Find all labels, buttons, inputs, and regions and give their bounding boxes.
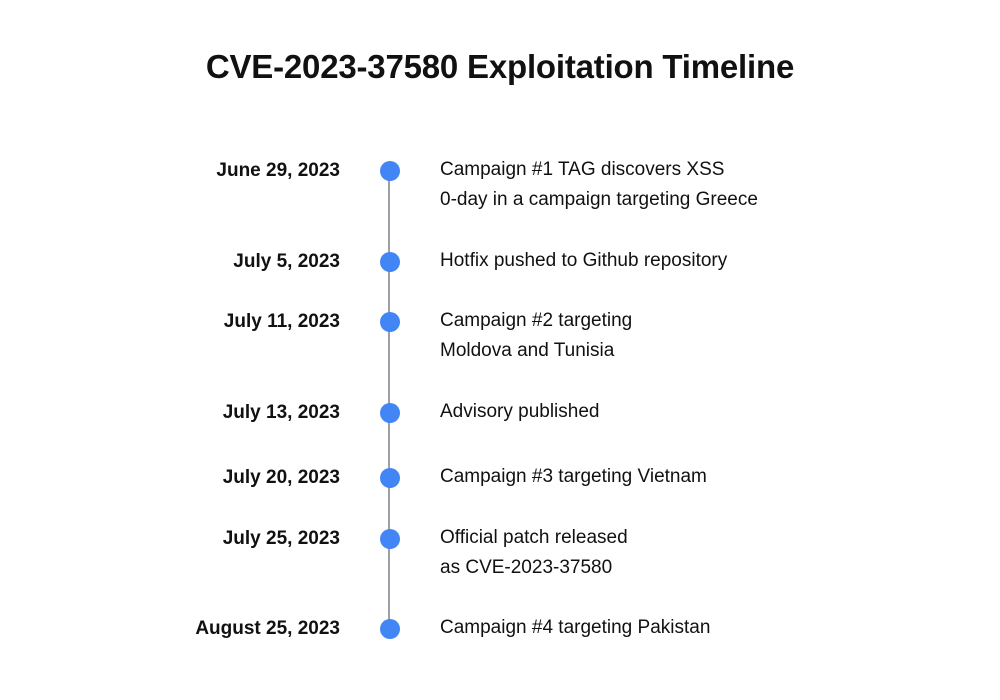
timeline-dot-icon <box>380 403 400 423</box>
event-description: Campaign #3 targeting Vietnam <box>440 456 1000 492</box>
event-marker-cell <box>340 391 440 423</box>
event-description: Advisory published <box>440 391 1000 427</box>
timeline-dot-icon <box>380 312 400 332</box>
event-date: July 25, 2023 <box>0 517 340 551</box>
event-marker-cell <box>340 300 440 332</box>
event-marker-cell <box>340 607 440 639</box>
event-description-line: Advisory published <box>440 397 980 427</box>
event-description-line: Moldova and Tunisia <box>440 336 980 366</box>
timeline-infographic: CVE-2023-37580 Exploitation Timeline Jun… <box>0 0 1000 700</box>
event-description-line: as CVE-2023-37580 <box>440 553 980 583</box>
timeline-dot-icon <box>380 619 400 639</box>
timeline-dot-icon <box>380 468 400 488</box>
event-marker-cell <box>340 240 440 272</box>
event-description: Campaign #4 targeting Pakistan <box>440 607 1000 643</box>
event-date: July 20, 2023 <box>0 456 340 490</box>
event-date: July 5, 2023 <box>0 240 340 274</box>
event-date: July 13, 2023 <box>0 391 340 425</box>
event-description-line: Campaign #1 TAG discovers XSS <box>440 155 980 185</box>
event-marker-cell <box>340 149 440 181</box>
timeline-dot-icon <box>380 252 400 272</box>
event-description: Official patch releasedas CVE-2023-37580 <box>440 517 1000 583</box>
event-marker-cell <box>340 456 440 488</box>
event-description-line: Campaign #2 targeting <box>440 306 980 336</box>
event-description-line: Official patch released <box>440 523 980 553</box>
event-description-line: 0-day in a campaign targeting Greece <box>440 185 980 215</box>
event-description: Campaign #1 TAG discovers XSS0-day in a … <box>440 149 1000 215</box>
event-date: June 29, 2023 <box>0 149 340 183</box>
event-description-line: Campaign #3 targeting Vietnam <box>440 462 980 492</box>
event-description: Campaign #2 targetingMoldova and Tunisia <box>440 300 1000 366</box>
event-description: Hotfix pushed to Github repository <box>440 240 1000 276</box>
event-description-line: Hotfix pushed to Github repository <box>440 246 980 276</box>
event-date: August 25, 2023 <box>0 607 340 641</box>
timeline-dot-icon <box>380 529 400 549</box>
event-date: July 11, 2023 <box>0 300 340 334</box>
event-description-line: Campaign #4 targeting Pakistan <box>440 613 980 643</box>
page-title: CVE-2023-37580 Exploitation Timeline <box>0 48 1000 86</box>
event-marker-cell <box>340 517 440 549</box>
timeline-dot-icon <box>380 161 400 181</box>
